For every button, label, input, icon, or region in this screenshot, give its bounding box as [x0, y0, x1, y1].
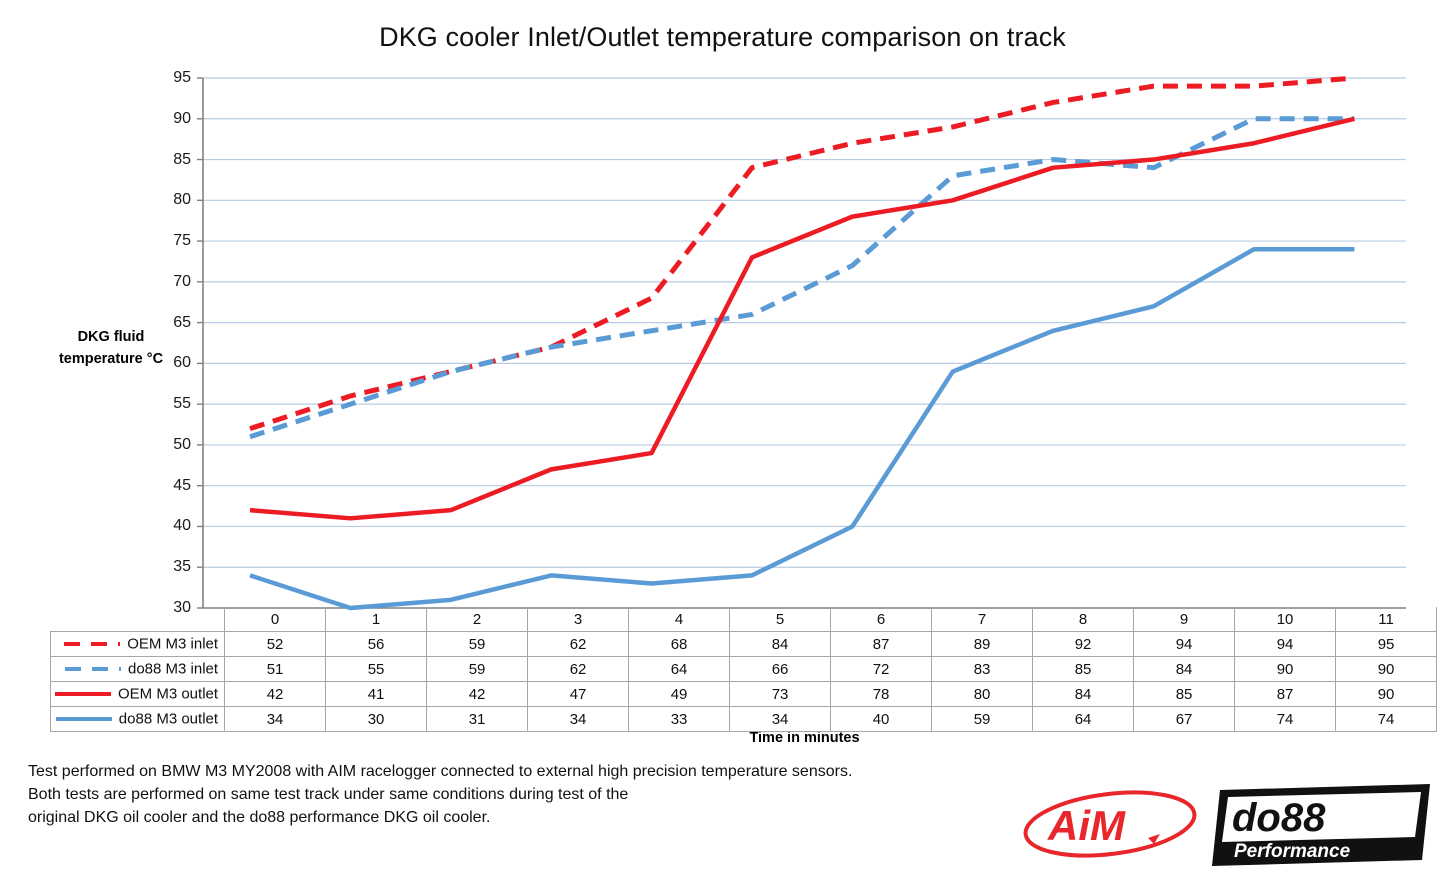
table-cell: 94 [1235, 632, 1336, 657]
series-line-0 [250, 78, 1354, 429]
table-cell: 78 [831, 682, 932, 707]
y-tick-label: 95 [155, 69, 191, 87]
series-line-1 [250, 119, 1354, 437]
table-body: OEM M3 inlet525659626884878992949495do88… [51, 632, 1437, 732]
table-cell: 49 [629, 682, 730, 707]
table-corner-cell [51, 607, 225, 632]
x-axis-title: Time in minutes [203, 730, 1406, 746]
table-cell: 56 [326, 632, 427, 657]
table-cell: 89 [932, 632, 1033, 657]
legend-swatch-icon [65, 663, 121, 675]
table-cell: 87 [831, 632, 932, 657]
table-cell: 59 [427, 632, 528, 657]
table-cell: 51 [225, 657, 326, 682]
table-cell: 84 [730, 632, 831, 657]
table-col-header: 10 [1235, 607, 1336, 632]
table-col-header: 9 [1134, 607, 1235, 632]
y-tick-label: 45 [155, 477, 191, 495]
do88-logo: do88 Performance [1212, 784, 1430, 866]
table-cell: 95 [1336, 632, 1437, 657]
table-cell: 84 [1033, 682, 1134, 707]
table-cell: 90 [1235, 657, 1336, 682]
y-tick-label: 40 [155, 517, 191, 535]
table-cell: 62 [528, 632, 629, 657]
table-cell: 33 [629, 707, 730, 732]
legend-label: OEM M3 inlet [127, 636, 218, 653]
legend-cell-2: OEM M3 outlet [51, 682, 225, 707]
table-cell: 83 [932, 657, 1033, 682]
legend-swatch-icon [55, 688, 111, 700]
legend-cell-0: OEM M3 inlet [51, 632, 225, 657]
table-cell: 74 [1336, 707, 1437, 732]
table-col-header: 3 [528, 607, 629, 632]
legend-label: do88 M3 inlet [128, 661, 218, 678]
table-col-header: 8 [1033, 607, 1134, 632]
table-cell: 42 [225, 682, 326, 707]
table-cell: 59 [427, 657, 528, 682]
do88-logo-sub: Performance [1234, 841, 1351, 862]
table-col-header: 1 [326, 607, 427, 632]
table-cell: 94 [1134, 632, 1235, 657]
table-cell: 55 [326, 657, 427, 682]
table-cell: 30 [326, 707, 427, 732]
table-row: do88 M3 outlet343031343334405964677474 [51, 707, 1437, 732]
table-col-header: 2 [427, 607, 528, 632]
legend-label: OEM M3 outlet [118, 686, 218, 703]
y-tick-label: 85 [155, 151, 191, 169]
table-cell: 80 [932, 682, 1033, 707]
series-line-3 [250, 249, 1354, 608]
table-col-header: 4 [629, 607, 730, 632]
table-cell: 67 [1134, 707, 1235, 732]
chart-data-table: 01234567891011 OEM M3 inlet5256596268848… [50, 607, 1437, 732]
table-cell: 34 [528, 707, 629, 732]
table-col-header: 7 [932, 607, 1033, 632]
table-cell: 52 [225, 632, 326, 657]
table-col-header: 6 [831, 607, 932, 632]
table-cell: 66 [730, 657, 831, 682]
table-cell: 34 [225, 707, 326, 732]
y-tick-label: 70 [155, 273, 191, 291]
table-cell: 34 [730, 707, 831, 732]
table-col-header: 5 [730, 607, 831, 632]
table-header-row: 01234567891011 [51, 607, 1437, 632]
table-cell: 62 [528, 657, 629, 682]
y-tick-label: 65 [155, 314, 191, 332]
table-cell: 74 [1235, 707, 1336, 732]
series-line-2 [250, 119, 1354, 519]
table-cell: 41 [326, 682, 427, 707]
y-tick-label: 35 [155, 558, 191, 576]
table-row: OEM M3 outlet424142474973788084858790 [51, 682, 1437, 707]
footnote-text: Test performed on BMW M3 MY2008 with AIM… [28, 760, 852, 829]
table-cell: 73 [730, 682, 831, 707]
table-cell: 68 [629, 632, 730, 657]
aim-logo: AiM [1020, 788, 1200, 860]
table-cell: 87 [1235, 682, 1336, 707]
table-cell: 40 [831, 707, 932, 732]
table-col-header: 11 [1336, 607, 1437, 632]
legend-cell-1: do88 M3 inlet [51, 657, 225, 682]
table-cell: 47 [528, 682, 629, 707]
y-tick-label: 60 [155, 354, 191, 372]
y-tick-label: 50 [155, 436, 191, 454]
table-cell: 84 [1134, 657, 1235, 682]
legend-swatch-icon [56, 713, 112, 725]
legend-cell-3: do88 M3 outlet [51, 707, 225, 732]
legend-swatch-icon [64, 638, 120, 650]
table-cell: 64 [1033, 707, 1134, 732]
table-row: do88 M3 inlet515559626466728385849090 [51, 657, 1437, 682]
table-cell: 85 [1033, 657, 1134, 682]
y-tick-label: 80 [155, 191, 191, 209]
table-cell: 72 [831, 657, 932, 682]
table-col-header: 0 [225, 607, 326, 632]
do88-logo-main: do88 [1232, 796, 1326, 840]
table-cell: 31 [427, 707, 528, 732]
table-cell: 85 [1134, 682, 1235, 707]
y-tick-label: 55 [155, 395, 191, 413]
svg-text:AiM: AiM [1047, 802, 1126, 849]
table-cell: 64 [629, 657, 730, 682]
table-cell: 90 [1336, 682, 1437, 707]
y-tick-label: 90 [155, 110, 191, 128]
table-row: OEM M3 inlet525659626884878992949495 [51, 632, 1437, 657]
table-cell: 42 [427, 682, 528, 707]
table-cell: 92 [1033, 632, 1134, 657]
table-cell: 59 [932, 707, 1033, 732]
legend-label: do88 M3 outlet [119, 711, 218, 728]
y-tick-label: 75 [155, 232, 191, 250]
table-cell: 90 [1336, 657, 1437, 682]
